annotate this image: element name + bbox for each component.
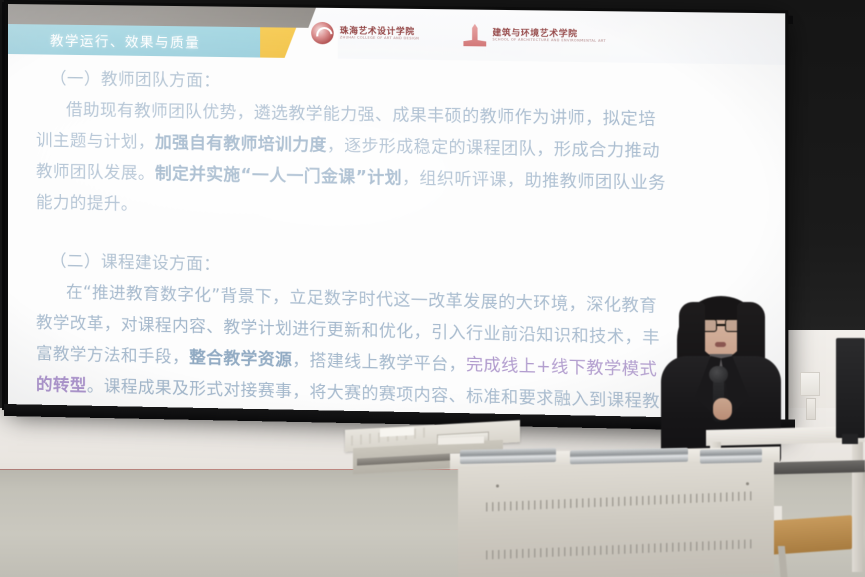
slide-text-run: 能力的提升。 — [36, 193, 138, 214]
desk-metal-trim — [570, 448, 688, 464]
desk-metal-trim — [460, 448, 556, 464]
desk-front-panel — [458, 460, 774, 577]
slide-text-run: 加强自有教师培训力度 — [155, 133, 327, 155]
monitor — [836, 338, 865, 438]
architecture-environment-art-school-logo: 建筑与环境艺术学院 SCHOOL OF ARCHITECTURE AND ENV… — [463, 24, 606, 48]
slide-text-run: 的转型 — [36, 375, 87, 395]
desk-screw — [496, 484, 499, 487]
microphone-head — [709, 366, 728, 383]
slide-text-run: 整合教学资源 — [189, 348, 292, 370]
slide-text-run: 制定并实施“一人一门金课”计划 — [155, 164, 402, 188]
slide-text-run: 教师团队发展。 — [36, 162, 155, 183]
logo-en-text: SCHOOL OF ARCHITECTURE AND ENVIRONMENTAL… — [492, 38, 605, 43]
classroom-scene: 教学运行、效果与质量 珠海艺术设计学院 ZHUHAI COLLEGE OF AR… — [0, 0, 865, 577]
presenter-hand — [713, 398, 732, 420]
slide-title-banner: 教学运行、效果与质量 — [8, 24, 268, 58]
monitor-stand — [842, 434, 858, 444]
desk-vent-upper — [486, 491, 754, 511]
slide-text-run: 完成线上+线下教学模式 — [466, 355, 657, 379]
desk-vent-lower — [486, 539, 754, 559]
desk-main — [450, 450, 780, 577]
slide-text-run: ，搭建线上教学平台， — [292, 350, 466, 374]
logo-en-text: ZHUHAI COLLEGE OF ART AND DESIGN — [340, 36, 419, 41]
slide-text-run: ，逐步形成稳定的课程团队，形成合力推动 — [327, 135, 660, 160]
glasses-bridge — [717, 324, 725, 326]
zhuhai-art-design-college-logo: 珠海艺术设计学院 ZHUHAI COLLEGE OF ART AND DESIG… — [311, 22, 419, 46]
slide-title: 教学运行、效果与质量 — [8, 29, 200, 52]
desk-metal-trim — [700, 448, 762, 463]
slide-text-run: 训主题与计划， — [36, 130, 155, 151]
slide-text-run: 借助现有教师团队优势，遴选教学能力强、成果丰硕的教师作为讲师，拟定培 — [66, 100, 656, 129]
slide-text-run: ，组织听评课，助推教师团队业务 — [402, 168, 666, 192]
wall-panel — [800, 372, 820, 396]
swirl-mark-icon — [311, 22, 334, 45]
desk-screw — [746, 482, 749, 485]
slide-text-run: 富教学方法和手段， — [36, 344, 189, 367]
presenter-mouth — [715, 342, 726, 347]
tower-mark-icon — [463, 24, 486, 47]
wall-socket — [806, 398, 816, 420]
section-one-paragraphs: 借助现有教师团队优势，遴选教学能力强、成果丰硕的教师作为讲师，拟定培训主题与计划… — [36, 93, 768, 232]
